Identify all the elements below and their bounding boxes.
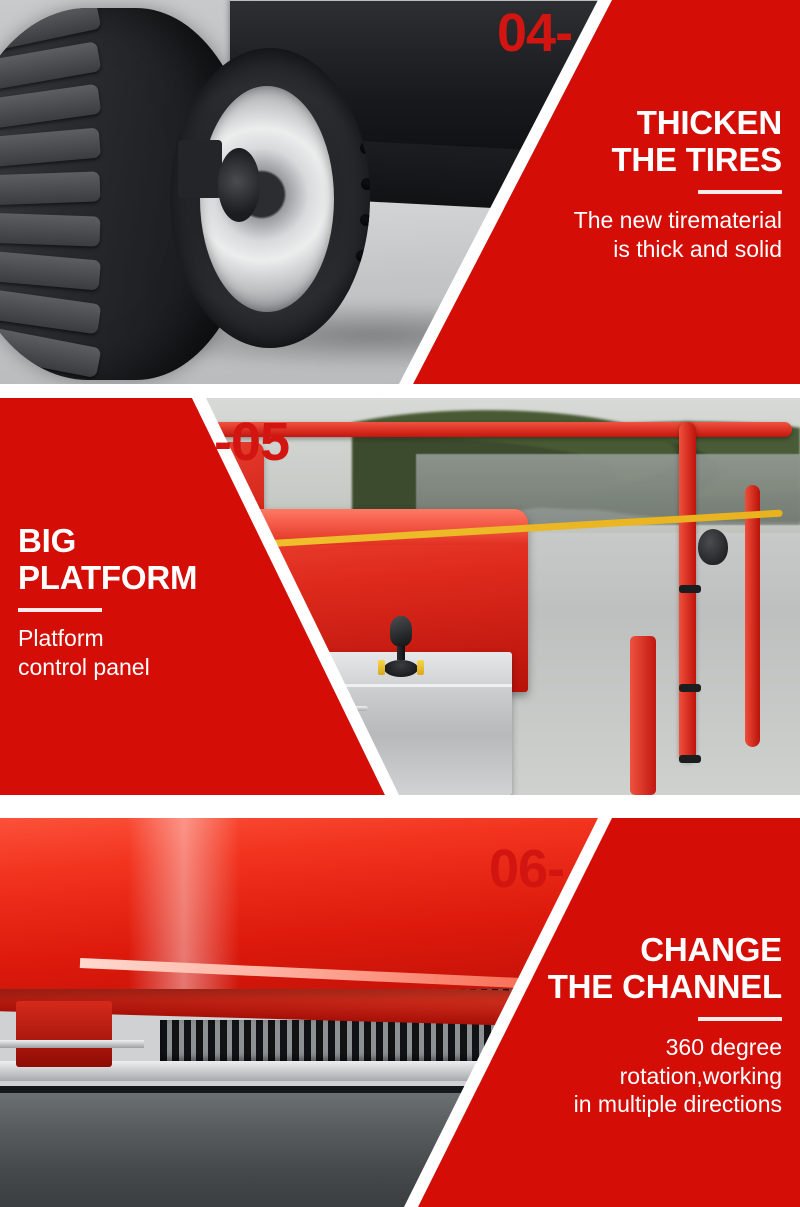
panel-1-heading-line2: THE TIRES — [452, 142, 782, 179]
panel-number-06: 06- — [489, 842, 564, 896]
panel-2-subtext-line1: Platform — [18, 624, 318, 653]
panel-1-heading-underline — [698, 190, 782, 194]
panel-3-subtext-line3: in multiple directions — [442, 1090, 782, 1119]
feature-panel-thicken-the-tires: 04- THICKEN THE TIRES The new tiremateri… — [0, 0, 800, 384]
panel-2-heading-underline — [18, 608, 102, 612]
panel-1-subtext-line2: is thick and solid — [452, 235, 782, 264]
panel-2-heading-line1: BIG — [18, 523, 318, 560]
panel-3-text-block: CHANGE THE CHANNEL 360 degree rotation,w… — [442, 932, 782, 1119]
panel-3-subtext-line1: 360 degree — [442, 1033, 782, 1062]
panel-3-heading-underline — [698, 1017, 782, 1021]
panel-2-heading-line2: PLATFORM — [18, 560, 318, 597]
panel-3-heading-line1: CHANGE — [442, 932, 782, 969]
panel-number-04: 04- — [497, 6, 572, 60]
panel-2-subtext-line2: control panel — [18, 653, 318, 682]
panel-number-05: -05 — [214, 415, 289, 469]
panel-1-heading-line1: THICKEN — [452, 105, 782, 142]
feature-panel-big-platform: -05 BIG PLATFORM Platform control panel — [0, 398, 800, 795]
feature-panel-change-the-channel: 06- CHANGE THE CHANNEL 360 degree rotati… — [0, 818, 800, 1207]
panel-1-subtext-line1: The new tirematerial — [452, 206, 782, 235]
panel-3-subtext-line2: rotation,working — [442, 1062, 782, 1091]
panel-3-heading-line2: THE CHANNEL — [442, 969, 782, 1006]
feature-panels-sheet: 04- THICKEN THE TIRES The new tiremateri… — [0, 0, 800, 1207]
panel-2-text-block: BIG PLATFORM Platform control panel — [18, 523, 318, 681]
panel-1-text-block: THICKEN THE TIRES The new tirematerial i… — [452, 105, 782, 263]
